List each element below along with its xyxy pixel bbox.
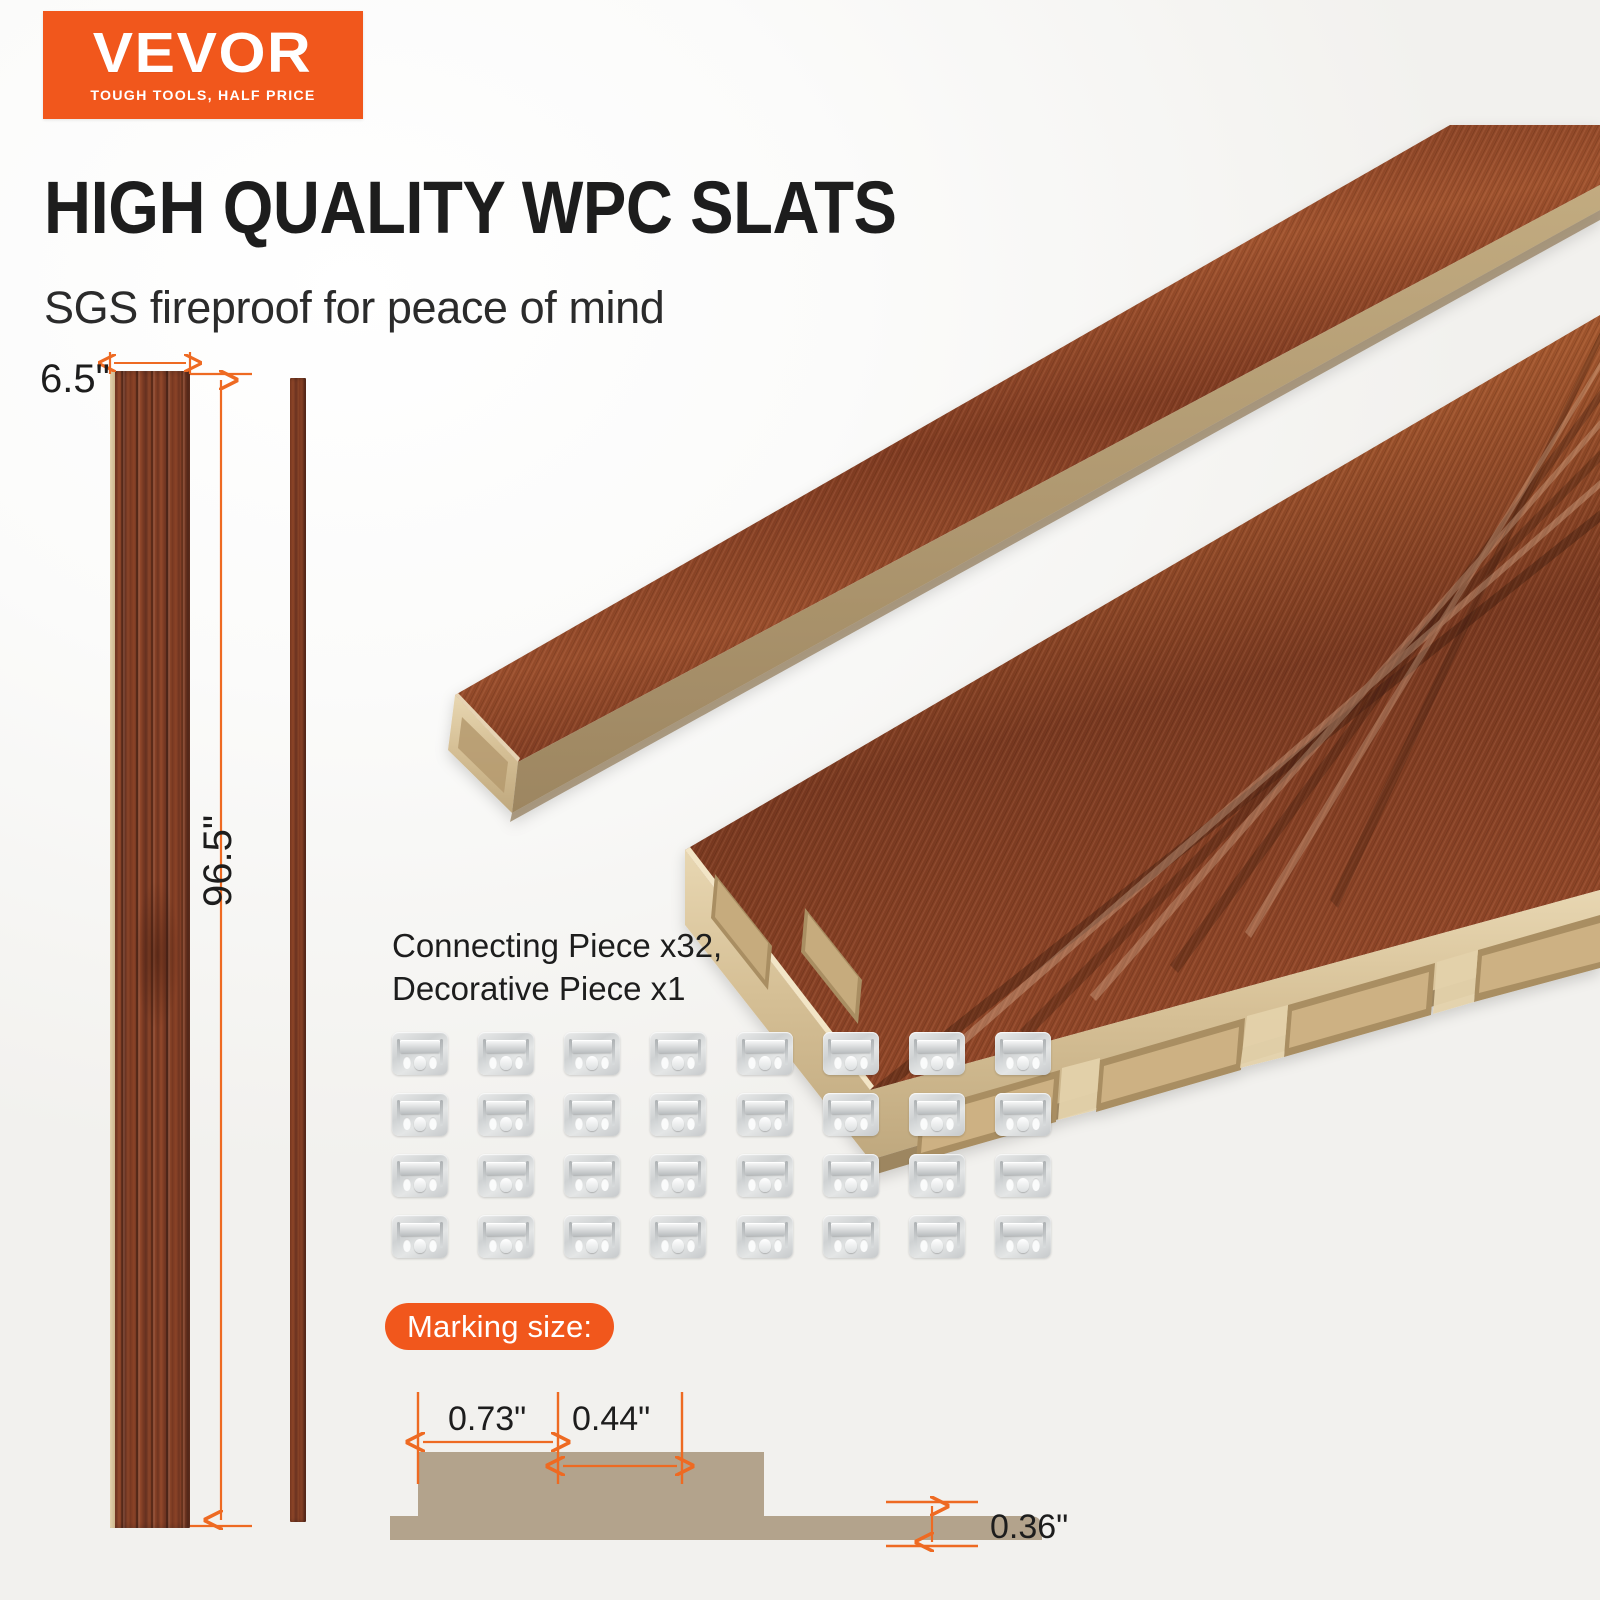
- clip-screw-hole: [489, 1178, 497, 1191]
- clip-screw-hole: [687, 1056, 695, 1069]
- clip-screw-hole: [1006, 1239, 1014, 1252]
- clip-center-dimple: [1017, 1239, 1029, 1253]
- clip-slot-right: [785, 1161, 788, 1187]
- clip-screw-hole: [489, 1117, 497, 1130]
- clip-slot-right: [526, 1100, 529, 1126]
- clip-center-dimple: [414, 1117, 426, 1131]
- clip-screw-hole: [515, 1117, 523, 1130]
- clip-raised-tab: [658, 1162, 698, 1175]
- clip-slot-right: [1043, 1222, 1046, 1248]
- clip-center-dimple: [672, 1178, 684, 1192]
- width-dimension-label: 6.5": [40, 357, 110, 402]
- dim-label-rib-width: 0.73": [448, 1400, 526, 1438]
- clip-screw-hole: [834, 1178, 842, 1191]
- clip-raised-tab: [400, 1223, 440, 1236]
- clip-raised-tab: [572, 1162, 612, 1175]
- clip-screw-hole: [403, 1178, 411, 1191]
- connecting-clip: [909, 1032, 965, 1075]
- clip-screw-hole: [748, 1056, 756, 1069]
- clip-screw-hole: [1006, 1178, 1014, 1191]
- clip-screw-hole: [1032, 1178, 1040, 1191]
- clip-screw-hole: [661, 1178, 669, 1191]
- clip-screw-hole: [860, 1117, 868, 1130]
- clip-screw-hole: [575, 1178, 583, 1191]
- clip-screw-hole: [429, 1056, 437, 1069]
- brand-tagline: TOUGH TOOLS, HALF PRICE: [90, 88, 315, 104]
- clip-screw-hole: [687, 1178, 695, 1191]
- clip-slot-right: [440, 1222, 443, 1248]
- connecting-clip: [995, 1032, 1051, 1075]
- clip-center-dimple: [931, 1178, 943, 1192]
- clip-raised-tab: [917, 1040, 957, 1053]
- clip-raised-tab: [1003, 1162, 1043, 1175]
- connecting-clip: [995, 1215, 1051, 1258]
- clip-center-dimple: [759, 1178, 771, 1192]
- clip-raised-tab: [1003, 1040, 1043, 1053]
- connecting-clip: [564, 1032, 620, 1075]
- connecting-clip: [909, 1215, 965, 1258]
- clip-center-dimple: [931, 1117, 943, 1131]
- clip-center-dimple: [931, 1056, 943, 1070]
- connecting-clip: [392, 1093, 448, 1136]
- slat-panel-sample-wide: [110, 371, 190, 1528]
- clip-screw-hole: [429, 1239, 437, 1252]
- connecting-clip: [392, 1154, 448, 1197]
- connecting-clip: [737, 1032, 793, 1075]
- clip-screw-hole: [774, 1178, 782, 1191]
- clip-slot-right: [957, 1161, 960, 1187]
- clip-raised-tab: [400, 1101, 440, 1114]
- clip-slot-right: [526, 1161, 529, 1187]
- clip-screw-hole: [575, 1056, 583, 1069]
- clip-slot-right: [871, 1161, 874, 1187]
- clip-center-dimple: [931, 1239, 943, 1253]
- clip-raised-tab: [400, 1040, 440, 1053]
- clip-center-dimple: [586, 1178, 598, 1192]
- clip-center-dimple: [672, 1056, 684, 1070]
- clip-screw-hole: [661, 1239, 669, 1252]
- clip-screw-hole: [946, 1117, 954, 1130]
- clip-center-dimple: [759, 1117, 771, 1131]
- clip-screw-hole: [860, 1056, 868, 1069]
- clip-slot-right: [440, 1100, 443, 1126]
- clip-center-dimple: [586, 1056, 598, 1070]
- clip-center-dimple: [500, 1056, 512, 1070]
- clip-slot-right: [1043, 1039, 1046, 1065]
- clip-screw-hole: [515, 1056, 523, 1069]
- clip-raised-tab: [572, 1101, 612, 1114]
- connecting-clip: [564, 1093, 620, 1136]
- accessories-caption: Connecting Piece x32, Decorative Piece x…: [392, 925, 722, 1011]
- clip-screw-hole: [601, 1178, 609, 1191]
- clip-slot-right: [957, 1100, 960, 1126]
- connecting-clip: [478, 1215, 534, 1258]
- clip-screw-hole: [834, 1117, 842, 1130]
- clip-center-dimple: [414, 1056, 426, 1070]
- clip-raised-tab: [917, 1223, 957, 1236]
- clip-slot-right: [612, 1161, 615, 1187]
- connecting-clip: [995, 1093, 1051, 1136]
- accessories-line-2: Decorative Piece x1: [392, 968, 722, 1011]
- clip-screw-hole: [429, 1178, 437, 1191]
- clip-screw-hole: [1032, 1056, 1040, 1069]
- connecting-clip: [737, 1215, 793, 1258]
- clip-center-dimple: [759, 1056, 771, 1070]
- connecting-clip: [737, 1093, 793, 1136]
- connecting-clip: [823, 1215, 879, 1258]
- connecting-clip: [909, 1093, 965, 1136]
- clip-raised-tab: [486, 1101, 526, 1114]
- clip-slot-right: [785, 1100, 788, 1126]
- clip-screw-hole: [403, 1117, 411, 1130]
- clip-slot-right: [1043, 1161, 1046, 1187]
- connecting-clip: [909, 1154, 965, 1197]
- clip-center-dimple: [1017, 1178, 1029, 1192]
- clip-slot-right: [526, 1222, 529, 1248]
- clip-slot-right: [440, 1039, 443, 1065]
- clip-screw-hole: [860, 1239, 868, 1252]
- clip-screw-hole: [920, 1239, 928, 1252]
- clip-raised-tab: [917, 1162, 957, 1175]
- clip-slot-right: [526, 1039, 529, 1065]
- clip-center-dimple: [672, 1117, 684, 1131]
- connecting-clip: [650, 1154, 706, 1197]
- clip-center-dimple: [845, 1117, 857, 1131]
- clip-screw-hole: [748, 1239, 756, 1252]
- connecting-clip: [823, 1032, 879, 1075]
- clip-raised-tab: [745, 1040, 785, 1053]
- clip-slot-right: [785, 1222, 788, 1248]
- clip-raised-tab: [486, 1162, 526, 1175]
- clip-center-dimple: [759, 1239, 771, 1253]
- clip-screw-hole: [515, 1178, 523, 1191]
- clip-center-dimple: [845, 1178, 857, 1192]
- clip-screw-hole: [687, 1239, 695, 1252]
- clip-raised-tab: [572, 1223, 612, 1236]
- connecting-clip: [650, 1032, 706, 1075]
- clip-screw-hole: [403, 1239, 411, 1252]
- clip-screw-hole: [748, 1178, 756, 1191]
- clip-center-dimple: [1017, 1056, 1029, 1070]
- connecting-clip: [564, 1215, 620, 1258]
- connecting-clip: [478, 1032, 534, 1075]
- clip-center-dimple: [586, 1239, 598, 1253]
- clip-raised-tab: [572, 1040, 612, 1053]
- clip-raised-tab: [658, 1101, 698, 1114]
- clip-raised-tab: [917, 1101, 957, 1114]
- clip-screw-hole: [946, 1178, 954, 1191]
- clip-screw-hole: [1032, 1239, 1040, 1252]
- clip-raised-tab: [745, 1162, 785, 1175]
- connecting-clip: [650, 1215, 706, 1258]
- clip-slot-right: [440, 1161, 443, 1187]
- clip-raised-tab: [745, 1223, 785, 1236]
- clip-screw-hole: [1006, 1056, 1014, 1069]
- clip-screw-hole: [860, 1178, 868, 1191]
- clip-slot-right: [785, 1039, 788, 1065]
- clip-slot-right: [957, 1039, 960, 1065]
- brand-name: VEVOR: [93, 26, 312, 80]
- clip-slot-right: [1043, 1100, 1046, 1126]
- clip-screw-hole: [403, 1056, 411, 1069]
- connecting-clip: [650, 1093, 706, 1136]
- clip-screw-hole: [1032, 1117, 1040, 1130]
- clip-slot-right: [871, 1039, 874, 1065]
- connecting-clip: [478, 1093, 534, 1136]
- clip-screw-hole: [429, 1117, 437, 1130]
- dim-label-groove-width: 0.44": [572, 1400, 650, 1438]
- clip-raised-tab: [831, 1040, 871, 1053]
- clip-raised-tab: [1003, 1101, 1043, 1114]
- clip-raised-tab: [486, 1040, 526, 1053]
- clip-slot-right: [612, 1039, 615, 1065]
- clip-screw-hole: [515, 1239, 523, 1252]
- clip-screw-hole: [661, 1117, 669, 1130]
- clip-grid-right: [737, 1032, 1057, 1258]
- clip-screw-hole: [601, 1056, 609, 1069]
- clip-screw-hole: [661, 1056, 669, 1069]
- height-dimension-label: 96.5": [196, 815, 241, 907]
- clip-screw-hole: [920, 1178, 928, 1191]
- accessories-line-1: Connecting Piece x32,: [392, 925, 722, 968]
- connecting-clip: [392, 1032, 448, 1075]
- clip-screw-hole: [575, 1239, 583, 1252]
- clip-slot-right: [698, 1100, 701, 1126]
- clip-center-dimple: [845, 1056, 857, 1070]
- clip-slot-right: [871, 1100, 874, 1126]
- clip-screw-hole: [748, 1117, 756, 1130]
- clip-slot-right: [871, 1222, 874, 1248]
- clip-screw-hole: [489, 1239, 497, 1252]
- clip-screw-hole: [834, 1056, 842, 1069]
- clip-screw-hole: [1006, 1117, 1014, 1130]
- clip-raised-tab: [658, 1040, 698, 1053]
- clip-slot-right: [698, 1039, 701, 1065]
- clip-screw-hole: [920, 1056, 928, 1069]
- clip-slot-right: [698, 1161, 701, 1187]
- connecting-clip: [564, 1154, 620, 1197]
- clip-center-dimple: [414, 1239, 426, 1253]
- connecting-clip: [737, 1154, 793, 1197]
- connecting-clip: [823, 1093, 879, 1136]
- decorative-trim-sample-narrow: [290, 378, 306, 1522]
- clip-grid-left: [392, 1032, 712, 1258]
- wood-knot-detail: [134, 880, 180, 1030]
- vevor-logo: VEVOR TOUGH TOOLS, HALF PRICE: [43, 11, 363, 119]
- clip-center-dimple: [500, 1178, 512, 1192]
- poster-canvas: VEVOR TOUGH TOOLS, HALF PRICE HIGH QUALI…: [0, 0, 1600, 1600]
- clip-screw-hole: [946, 1056, 954, 1069]
- clip-screw-hole: [687, 1117, 695, 1130]
- clip-screw-hole: [774, 1117, 782, 1130]
- connecting-clip: [392, 1215, 448, 1258]
- clip-raised-tab: [831, 1101, 871, 1114]
- clip-screw-hole: [601, 1239, 609, 1252]
- height-dimension-arrows: [190, 368, 260, 1538]
- clip-slot-right: [612, 1100, 615, 1126]
- dim-label-base-thickness: 0.36": [990, 1508, 1068, 1546]
- connecting-clips-group: [392, 1032, 1082, 1277]
- connecting-clip: [478, 1154, 534, 1197]
- clip-center-dimple: [500, 1117, 512, 1131]
- clip-slot-right: [698, 1222, 701, 1248]
- clip-slot-right: [612, 1222, 615, 1248]
- clip-center-dimple: [1017, 1117, 1029, 1131]
- clip-screw-hole: [774, 1239, 782, 1252]
- clip-raised-tab: [831, 1162, 871, 1175]
- clip-raised-tab: [1003, 1223, 1043, 1236]
- clip-center-dimple: [500, 1239, 512, 1253]
- clip-slot-right: [957, 1222, 960, 1248]
- clip-raised-tab: [486, 1223, 526, 1236]
- clip-raised-tab: [745, 1101, 785, 1114]
- marking-size-badge: Marking size:: [385, 1303, 614, 1350]
- connecting-clip: [995, 1154, 1051, 1197]
- clip-raised-tab: [658, 1223, 698, 1236]
- clip-raised-tab: [831, 1223, 871, 1236]
- clip-screw-hole: [834, 1239, 842, 1252]
- clip-screw-hole: [946, 1239, 954, 1252]
- clip-screw-hole: [774, 1056, 782, 1069]
- clip-center-dimple: [586, 1117, 598, 1131]
- connecting-clip: [823, 1154, 879, 1197]
- clip-center-dimple: [414, 1178, 426, 1192]
- clip-screw-hole: [601, 1117, 609, 1130]
- clip-raised-tab: [400, 1162, 440, 1175]
- profile-cross-section-diagram: 0.73" 0.44" 0.36": [390, 1380, 1070, 1565]
- clip-screw-hole: [920, 1117, 928, 1130]
- clip-screw-hole: [489, 1056, 497, 1069]
- clip-center-dimple: [845, 1239, 857, 1253]
- clip-center-dimple: [672, 1239, 684, 1253]
- clip-screw-hole: [575, 1117, 583, 1130]
